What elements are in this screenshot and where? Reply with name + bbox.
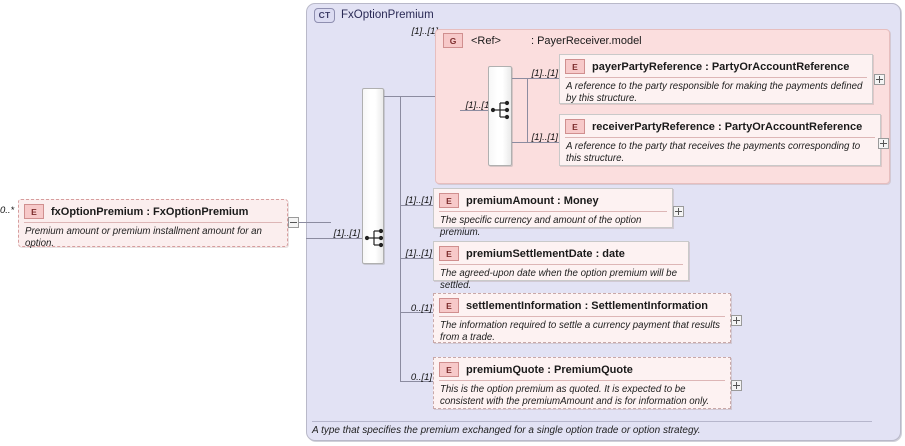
element-tag-icon: E (439, 246, 459, 261)
group-ref-label: <Ref> (471, 35, 501, 47)
element-node-premium-amount[interactable]: E premiumAmount : Money The specific cur… (433, 188, 673, 228)
root-element-name: fxOptionPremium : FxOptionPremium (51, 206, 248, 218)
root-element-collapse-toggle[interactable] (288, 217, 299, 228)
group-ref-type: : PayerReceiver.model (531, 35, 642, 47)
root-element-title-row: E fxOptionPremium : FxOptionPremium (19, 200, 287, 222)
inner-sequence-cardinality: [1]..[1] (452, 100, 492, 111)
element-node-settlement-information[interactable]: E settlementInformation : SettlementInfo… (433, 293, 731, 343)
element-node-premium-settlement-date[interactable]: E premiumSettlementDate : date The agree… (433, 241, 689, 281)
element-tag-icon: E (439, 193, 459, 208)
element-name: settlementInformation : SettlementInform… (466, 300, 708, 312)
payer-party-reference-cardinality: [1]..[1] (518, 68, 558, 79)
receiver-party-reference-expand-toggle[interactable] (878, 138, 889, 149)
outer-sequence-cardinality: [1]..[1] (318, 228, 360, 239)
element-tag-icon: E (439, 298, 459, 313)
group-ref-cardinality: [1]..[1] (398, 26, 438, 37)
connector-outer-seq-to-trunk (384, 96, 401, 97)
ct-tag-icon: CT (314, 8, 335, 23)
element-documentation: A reference to the party that receives t… (560, 138, 880, 169)
element-documentation: The information required to settle a cur… (434, 317, 730, 348)
root-element-documentation: Premium amount or premium installment am… (19, 223, 287, 254)
schema-diagram-canvas: CT FxOptionPremium A type that specifies… (0, 0, 905, 446)
complex-type-header: CT FxOptionPremium (314, 7, 434, 23)
element-name: premiumSettlementDate : date (466, 248, 625, 260)
element-name: receiverPartyReference : PartyOrAccountR… (592, 121, 862, 133)
complex-type-title: FxOptionPremium (341, 9, 434, 21)
sequence-glyph-icon-inner (490, 99, 516, 121)
element-tag-icon: E (565, 119, 585, 134)
premium-amount-cardinality: [1]..[1] (392, 195, 432, 206)
node-title-row: E receiverPartyReference : PartyOrAccoun… (560, 115, 880, 137)
receiver-party-reference-cardinality: [1]..[1] (518, 132, 558, 143)
element-documentation: The agreed-upon date when the option pre… (434, 265, 688, 296)
element-tag-icon: E (565, 59, 585, 74)
premium-quote-expand-toggle[interactable] (731, 380, 742, 391)
element-name: premiumAmount : Money (466, 195, 599, 207)
node-title-row: E premiumSettlementDate : date (434, 242, 688, 264)
connector-trunk-to-group (400, 96, 436, 97)
element-tag-icon: E (24, 204, 44, 219)
root-element-node[interactable]: E fxOptionPremium : FxOptionPremium Prem… (18, 199, 288, 247)
settlement-information-cardinality: 0..[1] (392, 303, 432, 314)
group-ref-header[interactable]: G <Ref> : PayerReceiver.model (443, 33, 642, 48)
settlement-information-expand-toggle[interactable] (731, 315, 742, 326)
premium-amount-expand-toggle[interactable] (673, 206, 684, 217)
element-tag-icon: E (439, 362, 459, 377)
payer-party-reference-expand-toggle[interactable] (874, 74, 885, 85)
premium-quote-cardinality: 0..[1] (392, 372, 432, 383)
connector-root-to-toggle (288, 222, 289, 223)
element-documentation: A reference to the party responsible for… (560, 78, 872, 109)
element-documentation: The specific currency and amount of the … (434, 212, 672, 243)
element-documentation: This is the option premium as quoted. It… (434, 381, 730, 412)
group-tag-icon: G (443, 33, 463, 48)
node-title-row: E premiumAmount : Money (434, 189, 672, 211)
premium-settlement-date-cardinality: [1]..[1] (392, 248, 432, 259)
element-node-premium-quote[interactable]: E premiumQuote : PremiumQuote This is th… (433, 357, 731, 409)
node-title-row: E settlementInformation : SettlementInfo… (434, 294, 730, 316)
connector-toggle-to-ct (299, 222, 331, 223)
element-node-receiver-party-reference[interactable]: E receiverPartyReference : PartyOrAccoun… (559, 114, 881, 166)
element-name: payerPartyReference : PartyOrAccountRefe… (592, 61, 849, 73)
outer-branch-trunk (400, 96, 401, 381)
complex-type-documentation: A type that specifies the premium exchan… (312, 421, 872, 436)
element-name: premiumQuote : PremiumQuote (466, 364, 633, 376)
node-title-row: E payerPartyReference : PartyOrAccountRe… (560, 55, 872, 77)
sequence-glyph-icon (364, 227, 390, 249)
element-node-payer-party-reference[interactable]: E payerPartyReference : PartyOrAccountRe… (559, 54, 873, 104)
root-element-cardinality: 0..* (0, 205, 16, 216)
node-title-row: E premiumQuote : PremiumQuote (434, 358, 730, 380)
